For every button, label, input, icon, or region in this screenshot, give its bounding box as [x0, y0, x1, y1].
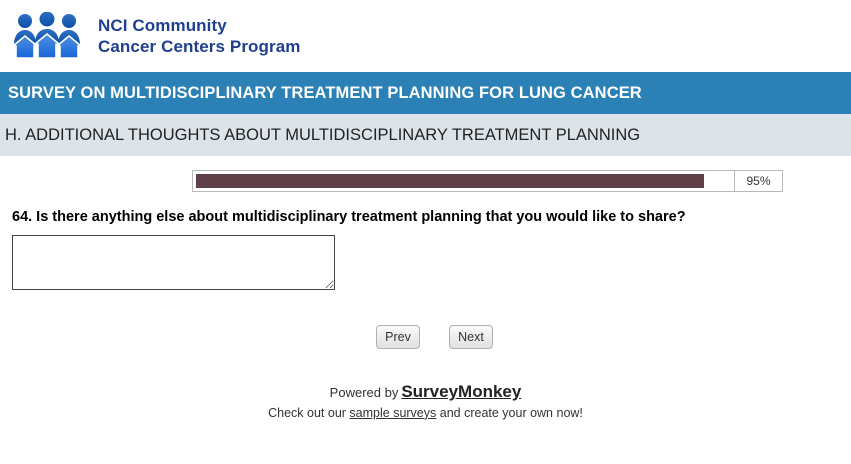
brand-header: NCI Community Cancer Centers Program [0, 0, 851, 72]
footer: Powered bySurveyMonkey Check out our sam… [0, 381, 851, 422]
progress-percent-label: 95% [734, 171, 782, 191]
survey-navigation: Prev Next [0, 325, 851, 349]
survey-title-band: SURVEY ON MULTIDISCIPLINARY TREATMENT PL… [0, 72, 851, 114]
three-people-houses-icon [12, 12, 84, 60]
section-title: H. ADDITIONAL THOUGHTS ABOUT MULTIDISCIP… [5, 126, 640, 145]
brand-name-line-2: Cancer Centers Program [98, 36, 301, 57]
tagline-after-text: and create your own now! [440, 406, 583, 420]
brand-name: NCI Community Cancer Centers Program [98, 15, 301, 58]
sample-surveys-link[interactable]: sample surveys [349, 406, 436, 420]
progress-fill [196, 174, 704, 188]
next-button[interactable]: Next [449, 325, 493, 349]
powered-by-line: Powered bySurveyMonkey [0, 381, 851, 404]
progress-bar: 95% [192, 170, 783, 192]
survey-section-band: H. ADDITIONAL THOUGHTS ABOUT MULTIDISCIP… [0, 114, 851, 156]
brand-name-line-1: NCI Community [98, 15, 301, 36]
prev-button[interactable]: Prev [376, 325, 420, 349]
surveymonkey-brand-link[interactable]: SurveyMonkey [401, 382, 521, 401]
answer-textarea[interactable] [12, 235, 335, 290]
tagline-before-text: Check out our [268, 406, 346, 420]
footer-tagline: Check out our sample surveys and create … [0, 405, 851, 422]
question-text: 64. Is there anything else about multidi… [12, 209, 851, 225]
powered-by-text: Powered by [330, 385, 399, 400]
progress-track [193, 171, 734, 191]
answer-area [12, 235, 851, 290]
survey-title: SURVEY ON MULTIDISCIPLINARY TREATMENT PL… [8, 84, 642, 103]
